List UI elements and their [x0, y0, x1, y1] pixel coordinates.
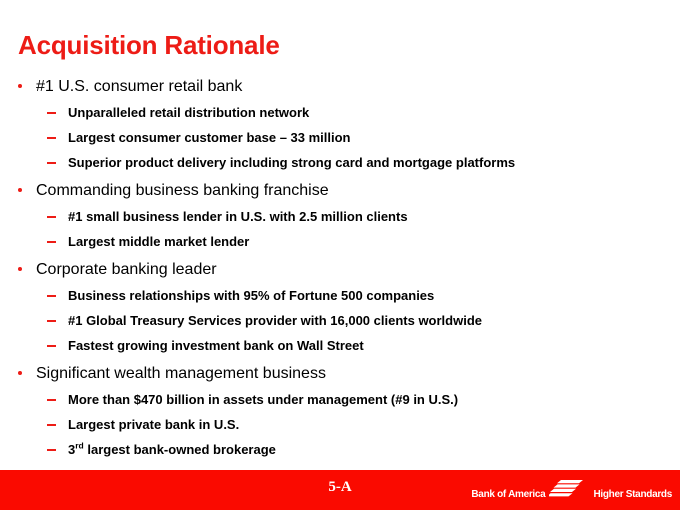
bullet-level2: Largest middle market lender: [0, 234, 660, 249]
bullet-level2: Business relationships with 95% of Fortu…: [0, 288, 660, 303]
bullet-dash-icon: [47, 399, 56, 401]
bullet-level2-label: Business relationships with 95% of Fortu…: [68, 288, 434, 303]
bullet-dash-icon: [47, 320, 56, 322]
logo-wordmark: Bank of America: [471, 489, 545, 502]
bullet-level2: #1 Global Treasury Services provider wit…: [0, 313, 660, 328]
bullet-level1-label: Commanding business banking franchise: [36, 182, 329, 199]
bullet-dot-icon: [18, 84, 22, 88]
bullet-dash-icon: [47, 345, 56, 347]
bullet-level2-label: Fastest growing investment bank on Wall …: [68, 338, 364, 353]
bullet-dot-icon: [18, 267, 22, 271]
bullet-level2: #1 small business lender in U.S. with 2.…: [0, 209, 660, 224]
bullet-level2: Fastest growing investment bank on Wall …: [0, 338, 660, 353]
bullet-level2-label: More than $470 billion in assets under m…: [68, 392, 458, 407]
bullet-level2-label: #1 small business lender in U.S. with 2.…: [68, 209, 408, 224]
bullet-level2: Superior product delivery including stro…: [0, 155, 660, 170]
bullet-level1: #1 U.S. consumer retail bank: [0, 78, 660, 95]
bank-of-america-logo: Bank of America Higher Standards: [471, 478, 672, 502]
bullet-group: Corporate banking leaderBusiness relatio…: [0, 261, 660, 353]
bullet-level2-label: Unparalleled retail distribution network: [68, 105, 309, 120]
bullet-level1-label: Corporate banking leader: [36, 261, 217, 278]
bullet-list: #1 U.S. consumer retail bankUnparalleled…: [0, 78, 660, 457]
bullet-level2-label-superscript: rd: [75, 441, 84, 451]
bullet-level2-label: Largest consumer customer base – 33 mill…: [68, 130, 351, 145]
bullet-level1: Commanding business banking franchise: [0, 182, 660, 199]
slide: Acquisition Rationale #1 U.S. consumer r…: [0, 0, 680, 510]
bullet-level1-label: Significant wealth management business: [36, 365, 326, 382]
bullet-level2-label-suffix: largest bank-owned brokerage: [84, 442, 276, 457]
bullet-dash-icon: [47, 216, 56, 218]
bullet-dash-icon: [47, 112, 56, 114]
bullet-level2-label: Superior product delivery including stro…: [68, 155, 515, 170]
bofa-flag-icon: [549, 479, 589, 501]
bullet-dash-icon: [47, 137, 56, 139]
bullet-level2-label: #1 Global Treasury Services provider wit…: [68, 313, 482, 328]
logo-tagline: Higher Standards: [593, 489, 672, 502]
bullet-dot-icon: [18, 371, 22, 375]
bullet-level2: Unparalleled retail distribution network: [0, 105, 660, 120]
bullet-level2-label: Largest private bank in U.S.: [68, 417, 239, 432]
bullet-dash-icon: [47, 449, 56, 451]
bullet-level2-label: Largest middle market lender: [68, 234, 249, 249]
bullet-level2: Largest consumer customer base – 33 mill…: [0, 130, 660, 145]
bullet-dash-icon: [47, 241, 56, 243]
bullet-group: Commanding business banking franchise#1 …: [0, 182, 660, 249]
bullet-dot-icon: [18, 188, 22, 192]
page-title: Acquisition Rationale: [18, 30, 280, 61]
bullet-level1: Significant wealth management business: [0, 365, 660, 382]
bullet-level1-label: #1 U.S. consumer retail bank: [36, 78, 242, 95]
bullet-dash-icon: [47, 162, 56, 164]
bullet-group: #1 U.S. consumer retail bankUnparalleled…: [0, 78, 660, 170]
footer-bar: 5-A Bank of America Higher Standards: [0, 470, 680, 510]
bullet-dash-icon: [47, 295, 56, 297]
bullet-level2: Largest private bank in U.S.: [0, 417, 660, 432]
bullet-group: Significant wealth management businessMo…: [0, 365, 660, 457]
bullet-dash-icon: [47, 424, 56, 426]
bullet-level1: Corporate banking leader: [0, 261, 660, 278]
bullet-level2: 3rd largest bank-owned brokerage: [0, 442, 660, 457]
bullet-level2: More than $470 billion in assets under m…: [0, 392, 660, 407]
